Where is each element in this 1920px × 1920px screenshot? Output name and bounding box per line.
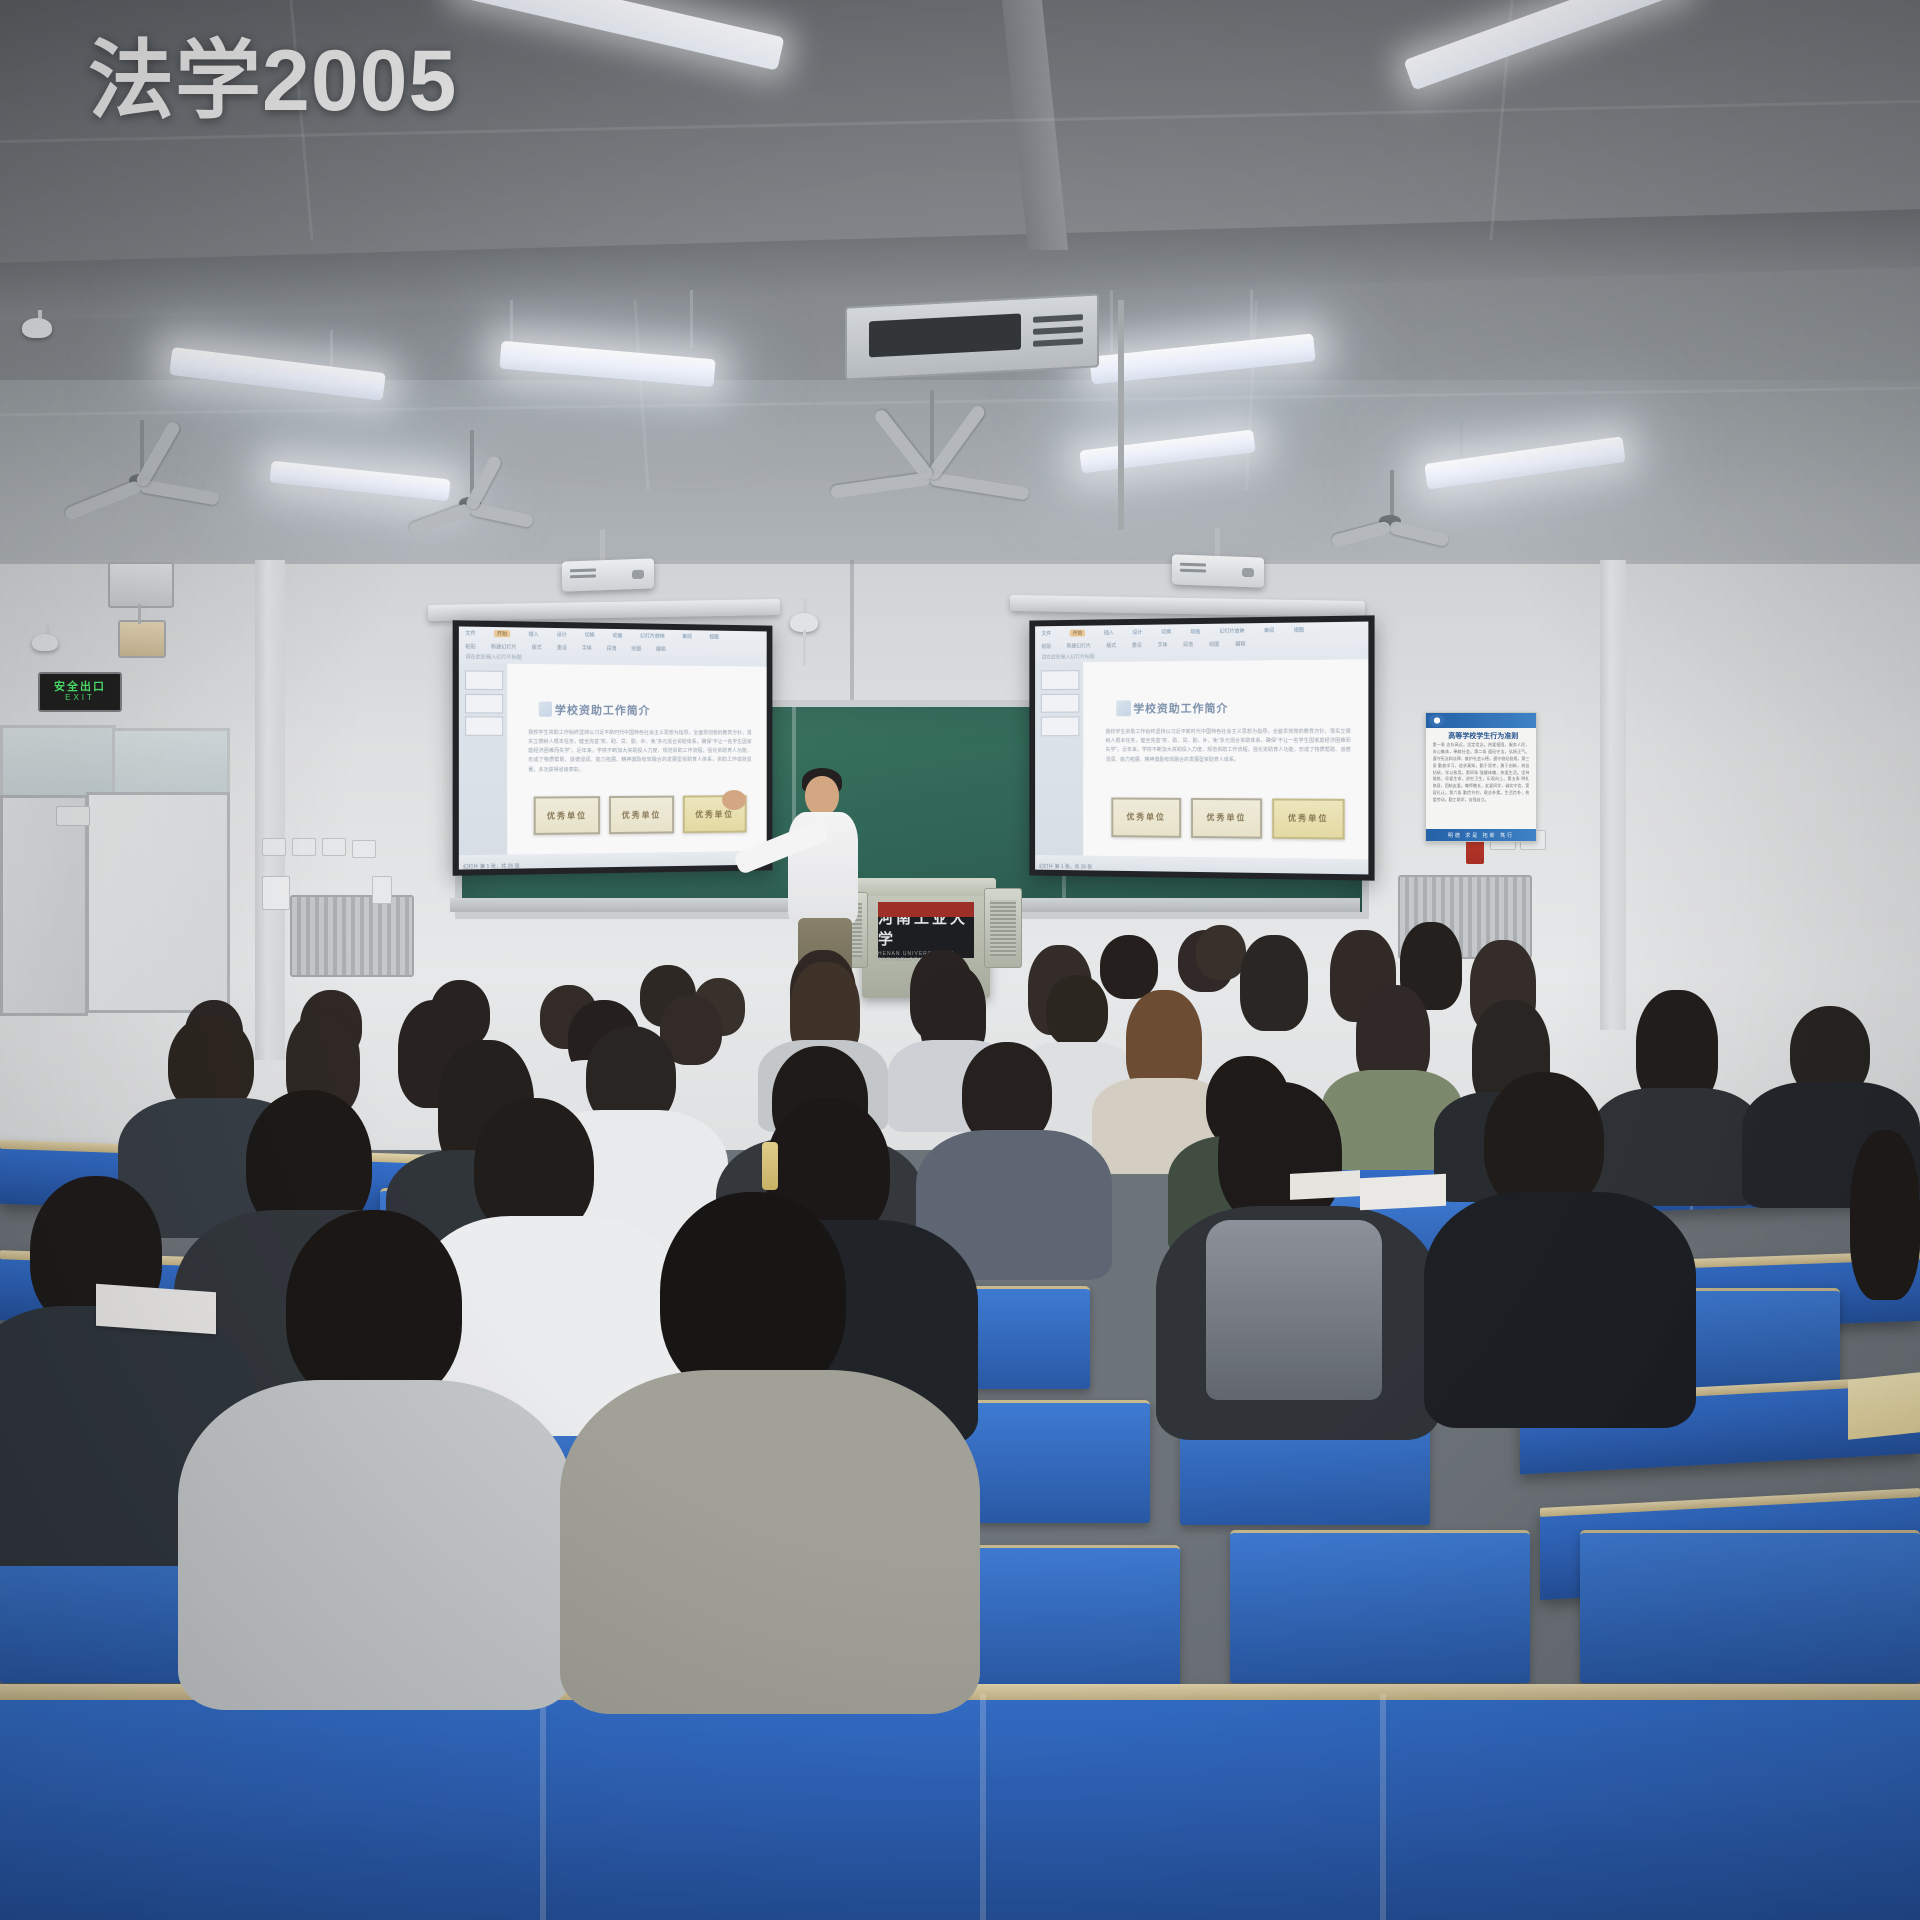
conduit-left [138, 604, 141, 624]
speaker-right [984, 888, 1022, 968]
wall-seam-top [0, 560, 1920, 564]
electrical-panel-2 [118, 620, 166, 658]
certificate-image-right-3: 优秀单位 [1272, 799, 1345, 839]
wall-socket-6 [262, 876, 290, 910]
ppt-tab-design-right[interactable]: 设计 [1133, 628, 1143, 635]
audience-head [1046, 975, 1108, 1047]
ppt-canvas-right[interactable]: 学校资助工作简介 我校学生资助工作始终坚持以习近平新时代中国特色社会主义思想为指… [1083, 659, 1368, 859]
notebook-on-desk [1360, 1174, 1446, 1211]
ppt-cmd-font-left[interactable]: 字体 [582, 645, 592, 652]
projector-mount-left [600, 530, 605, 562]
ac-vent-1 [1033, 314, 1083, 323]
ppt-status-bar-left: 幻灯片 第 1 张，共 26 张 [459, 851, 767, 870]
door-sign [56, 806, 90, 826]
desk-divider-front-3 [1380, 1694, 1386, 1920]
wall-socket-5 [372, 876, 392, 904]
projection-screen-left: 文件 开始 插入 设计 切换 动画 幻灯片放映 审阅 视图 粘贴 新建幻灯片 版… [453, 620, 773, 876]
cctv-camera-left-2 [32, 634, 58, 651]
projector-left-lens [632, 570, 644, 579]
ppt-tab-transitions-left[interactable]: 切换 [585, 632, 595, 639]
ppt-tab-insert-right[interactable]: 插入 [1104, 629, 1114, 636]
ppt-cmd-layout-right[interactable]: 版式 [1106, 642, 1116, 649]
window-left-upper [0, 725, 116, 801]
projection-screen-right: 文件 开始 插入 设计 切换 动画 幻灯片放映 审阅 视图 粘贴 新建幻灯片 版… [1029, 615, 1374, 880]
ppt-slide-thumbnail-left-2[interactable] [465, 694, 503, 713]
ppt-tab-animations-left[interactable]: 动画 [613, 632, 623, 639]
radiator-left [290, 895, 414, 977]
light-hanger-2 [330, 330, 333, 368]
slide-body-right: 我校学生资助工作始终坚持以习近平新时代中国特色社会主义思想为指导，全面贯彻党的教… [1106, 727, 1351, 765]
slide-body-left: 我校学生资助工作始终坚持以习近平新时代中国特色社会主义思想为指导，全面贯彻党的教… [528, 728, 751, 775]
ppt-cmd-paragraph-left[interactable]: 段落 [607, 645, 617, 652]
fan-rod-right [1390, 470, 1394, 516]
ppt-cmd-paste-right[interactable]: 粘贴 [1042, 643, 1052, 650]
ppt-tab-row-right: 文件 开始 插入 设计 切换 动画 幻灯片放映 审阅 视图 [1042, 624, 1362, 638]
ppt-slide-thumbnail-right[interactable] [1041, 670, 1080, 690]
ppt-status-text-left: 幻灯片 第 1 张，共 26 张 [463, 863, 520, 870]
desk-divider-front-1 [540, 1694, 546, 1920]
slide-title-right: 学校资助工作简介 [1133, 700, 1228, 716]
ppt-cmd-paste-left[interactable]: 粘贴 [465, 643, 475, 650]
ppt-slide-thumbnail-left-3[interactable] [465, 717, 503, 736]
speaker-right-mesh [990, 900, 1016, 956]
exit-sign-english: EXIT [65, 693, 95, 703]
slide-certificate-row-left: 优秀单位 优秀单位 优秀单位 [534, 795, 747, 834]
slide-title-bullet-icon-right [1117, 701, 1131, 717]
ppt-tab-design-left[interactable]: 设计 [557, 631, 567, 638]
ppt-tab-transitions-right[interactable]: 切换 [1161, 628, 1171, 635]
ppt-cmd-editing-right[interactable]: 编辑 [1235, 640, 1245, 647]
cctv-pole-center [803, 630, 806, 666]
slide-title-left: 学校资助工作简介 [555, 702, 651, 719]
certificate-image-right-2: 优秀单位 [1191, 798, 1263, 838]
ppt-ribbon-left: 文件 开始 插入 设计 切换 动画 幻灯片放映 审阅 视图 粘贴 新建幻灯片 版… [459, 626, 767, 666]
audience-head [1850, 1130, 1920, 1300]
ppt-tab-view-left[interactable]: 视图 [709, 634, 719, 641]
certificate-label-left-2: 优秀单位 [622, 809, 661, 820]
ppt-cmd-font-right[interactable]: 字体 [1157, 641, 1167, 648]
wall-socket-3 [322, 838, 346, 856]
cctv-camera-left [22, 318, 52, 338]
desk-divider-front-2 [980, 1694, 986, 1920]
ac-vent-2 [1033, 326, 1083, 335]
certificate-label-right-3: 优秀单位 [1288, 813, 1329, 824]
ppt-tab-row-left: 文件 开始 插入 设计 切换 动画 幻灯片放映 审阅 视图 [465, 629, 761, 643]
audience-body [560, 1370, 980, 1714]
ac-conduit [1118, 300, 1124, 530]
water-bottle [762, 1142, 778, 1190]
ppt-cmd-newslide-right[interactable]: 新建幻灯片 [1067, 642, 1091, 649]
ppt-tab-home-right[interactable]: 开始 [1070, 629, 1085, 636]
ppt-cmd-editing-left[interactable]: 编辑 [656, 646, 666, 653]
ppt-tab-file-left[interactable]: 文件 [465, 630, 475, 637]
exit-sign-chinese: 安全出口 [54, 682, 106, 693]
certificate-image-left-1: 优秀单位 [534, 796, 601, 834]
audience-backpack [1206, 1220, 1382, 1400]
fan-rod-center [930, 390, 934, 468]
ppt-cmd-drawing-left[interactable]: 绘图 [631, 645, 641, 652]
audience-head [286, 1210, 462, 1406]
audience-head [1240, 935, 1308, 1031]
presenter-head [805, 776, 839, 816]
audience-body [178, 1380, 574, 1710]
ppt-tab-view-right[interactable]: 视图 [1294, 626, 1304, 633]
certificate-image-left-2: 优秀单位 [609, 796, 674, 834]
ppt-tab-animations-right[interactable]: 动画 [1190, 628, 1200, 635]
ac-vent-3 [1033, 338, 1083, 347]
ppt-slide-pane-left[interactable] [459, 663, 508, 855]
ppt-cmd-paragraph-right[interactable]: 段落 [1183, 641, 1193, 648]
ppt-tab-review-right[interactable]: 审阅 [1264, 626, 1274, 633]
wall-socket-1 [262, 838, 286, 856]
ppt-status-bar-right: 幻灯片 第 1 张，共 26 张 [1035, 855, 1368, 874]
wall-socket-4 [352, 840, 376, 858]
audience-head [660, 1192, 846, 1400]
projector-left-vent-2 [570, 574, 596, 578]
ppt-slide-thumbnail-right-3[interactable] [1041, 716, 1080, 735]
ppt-cmd-drawing-right[interactable]: 绘图 [1209, 641, 1219, 648]
overlay-class-label: 法学2005 [88, 38, 457, 124]
audience-body [1424, 1192, 1696, 1428]
electrical-panel-1 [108, 562, 174, 608]
desk-row-front [0, 1690, 1920, 1920]
notebook-on-desk [1290, 1170, 1360, 1200]
slide-title-bullet-icon-left [539, 702, 552, 717]
photo-canvas: 安全出口 EXIT 高等学校学生行为准则 第一条 志存高远，坚定信念。热爱祖国，… [0, 0, 1920, 1920]
projector-right-vent-2 [1180, 569, 1206, 573]
ppt-tab-review-left[interactable]: 审阅 [682, 633, 692, 640]
light-hanger-7 [1460, 420, 1463, 460]
ppt-cmd-reset-left[interactable]: 重设 [557, 644, 567, 651]
seat-back-e-3 [1230, 1530, 1530, 1683]
ppt-canvas-left[interactable]: 学校资助工作简介 我校学生资助工作始终坚持以习近平新时代中国特色社会主义思想为指… [507, 663, 767, 854]
slide-certificate-row-right: 优秀单位 优秀单位 优秀单位 [1111, 798, 1345, 839]
notice-board: 高等学校学生行为准则 第一条 志存高远，坚定信念。热爱祖国，服务人民，关心集体，… [1425, 712, 1537, 842]
projector-mount-right [1215, 528, 1220, 558]
light-hanger-5 [1110, 290, 1113, 352]
ppt-tab-slideshow-right[interactable]: 幻灯片放映 [1219, 627, 1244, 634]
certificate-image-right-1: 优秀单位 [1111, 798, 1181, 838]
ppt-tab-insert-left[interactable]: 插入 [529, 631, 539, 638]
presenter-hand [722, 790, 746, 810]
certificate-label-left-1: 优秀单位 [547, 810, 587, 821]
notice-title: 高等学校学生行为准则 [1435, 731, 1532, 741]
projector-right [1172, 554, 1264, 587]
audience-head [1484, 1072, 1604, 1212]
ppt-ribbon-right: 文件 开始 插入 设计 切换 动画 幻灯片放映 审阅 视图 粘贴 新建幻灯片 版… [1035, 622, 1368, 663]
ppt-tab-file-right[interactable]: 文件 [1042, 630, 1052, 637]
notebook-on-desk [96, 1284, 216, 1334]
certificate-label-left-3: 优秀单位 [695, 809, 734, 820]
projector-right-lens [1242, 568, 1254, 577]
ppt-slide-thumbnail-right-2[interactable] [1041, 693, 1080, 713]
ppt-cmd-newslide-left[interactable]: 新建幻灯片 [491, 643, 517, 650]
window-left-upper-2 [112, 728, 230, 802]
ppt-slide-pane-right[interactable] [1035, 662, 1084, 855]
ppt-status-text-right: 幻灯片 第 1 张，共 26 张 [1039, 864, 1092, 871]
wall-column-right [1600, 560, 1626, 1030]
wall-socket-2 [292, 838, 316, 856]
ppt-cmd-reset-right[interactable]: 重设 [1132, 642, 1142, 649]
notebook-on-desk [1848, 1372, 1920, 1440]
ppt-tab-home-left[interactable]: 开始 [494, 630, 510, 637]
ppt-cmd-layout-left[interactable]: 版式 [532, 644, 542, 651]
audience-body [1592, 1088, 1762, 1206]
notice-body: 第一条 志存高远，坚定信念。热爱祖国，服务人民，关心集体，奉献社会。第二条 遵纪… [1433, 742, 1530, 825]
light-hanger-4 [690, 290, 693, 348]
projector-left-vent-1 [570, 568, 596, 572]
door-left-2 [86, 792, 230, 1013]
projector-left [562, 558, 654, 591]
door-left [0, 795, 88, 1016]
notice-footer: 明德 求是 拓新 笃行 [1426, 829, 1536, 841]
certificate-label-right-1: 优秀单位 [1127, 812, 1166, 823]
notice-school-emblem-icon [1429, 714, 1444, 727]
air-conditioner [845, 293, 1099, 380]
seat-back-e-4 [1580, 1530, 1920, 1683]
ppt-tab-slideshow-left[interactable]: 幻灯片放映 [640, 633, 665, 640]
ppt-slide-thumbnail-left[interactable] [465, 671, 503, 691]
ac-grill [869, 313, 1021, 357]
audience-head [1196, 925, 1246, 980]
certificate-label-right-2: 优秀单位 [1206, 812, 1246, 823]
wall-column-left [255, 560, 285, 1060]
audience-head [1100, 935, 1158, 999]
presenter [760, 760, 900, 980]
exit-sign: 安全出口 EXIT [38, 672, 122, 712]
projector-right-vent-1 [1180, 563, 1206, 567]
